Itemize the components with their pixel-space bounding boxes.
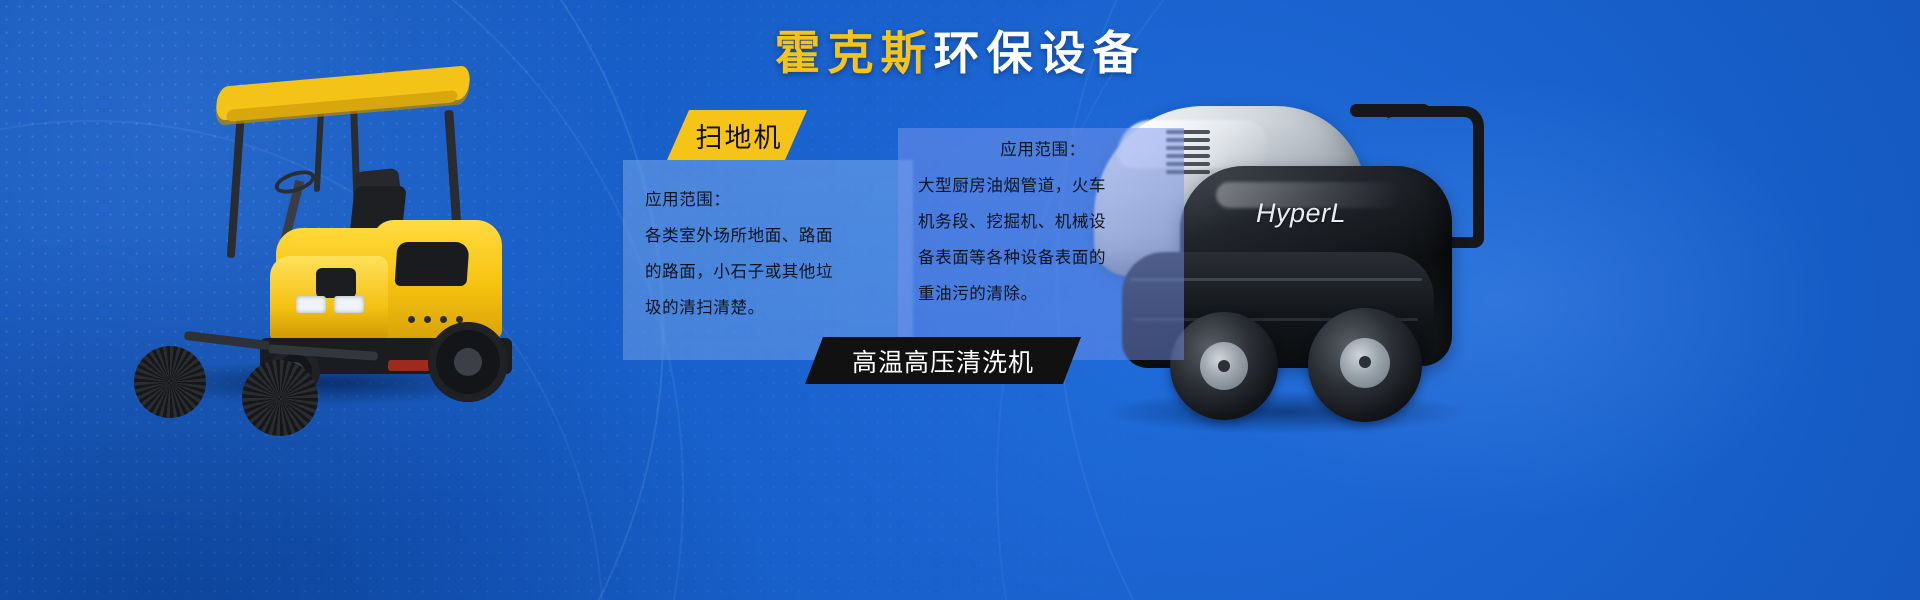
sweeper-scope-label: 应用范围：	[645, 182, 905, 218]
washer-wheel-cap	[1359, 356, 1371, 368]
sweeper-canopy-pillar	[314, 106, 324, 192]
sweeper-headlamp	[296, 296, 326, 313]
sweeper-canopy-pillar	[227, 108, 245, 258]
banner-title: 霍克斯环保设备	[0, 30, 1920, 76]
sweeper-description-text: 应用范围： 各类室外场所地面、路面 的路面，小石子或其他垃 圾的清扫清楚。	[645, 182, 905, 326]
sweeper-side-panel-dark	[394, 242, 469, 286]
washer-tag-label: 高温高压清洗机	[805, 337, 1081, 384]
description-line: 备表面等各种设备表面的	[918, 240, 1168, 276]
sweeper-side-brush	[242, 360, 318, 436]
sweeper-headlamp	[334, 296, 364, 313]
sweeper-rivet	[424, 316, 431, 323]
washer-brand-label: HyperL	[1256, 198, 1346, 229]
description-line: 圾的清扫清楚。	[645, 290, 905, 326]
description-line: 重油污的清除。	[918, 276, 1168, 312]
washer-description-lines: 大型厨房油烟管道，火车 机务段、挖掘机、机械设 备表面等各种设备表面的 重油污的…	[918, 168, 1168, 312]
title-category: 环保设备	[934, 26, 1146, 80]
product-image-sweeper	[120, 60, 520, 420]
description-line: 各类室外场所地面、路面	[645, 218, 905, 254]
promo-banner: HyperL 霍克斯环保设备 应用范围： 各类室外场所地面、路面 的路面，小石子…	[0, 0, 1920, 600]
sweeper-brush-arm	[184, 331, 270, 350]
washer-shadow	[1100, 390, 1470, 434]
washer-scope-label: 应用范围：	[918, 132, 1168, 168]
sweeper-side-brush	[134, 346, 206, 418]
sweeper-front-panel-dark	[316, 268, 356, 298]
washer-handle-bar	[1350, 104, 1430, 117]
sweeper-description-lines: 各类室外场所地面、路面 的路面，小石子或其他垃 圾的清扫清楚。	[645, 218, 905, 326]
washer-description-text: 应用范围： 大型厨房油烟管道，火车 机务段、挖掘机、机械设 备表面等各种设备表面…	[918, 132, 1168, 312]
washer-wheel-cap	[1218, 360, 1230, 372]
sweeper-rear-hub	[454, 348, 482, 376]
description-line: 机务段、挖掘机、机械设	[918, 204, 1168, 240]
sweeper-rivet	[440, 316, 447, 323]
sweeper-rivet	[408, 316, 415, 323]
description-line: 的路面，小石子或其他垃	[645, 254, 905, 290]
description-line: 大型厨房油烟管道，火车	[918, 168, 1168, 204]
sweeper-tag-label: 扫地机	[667, 110, 807, 160]
title-brand: 霍克斯	[775, 26, 934, 80]
